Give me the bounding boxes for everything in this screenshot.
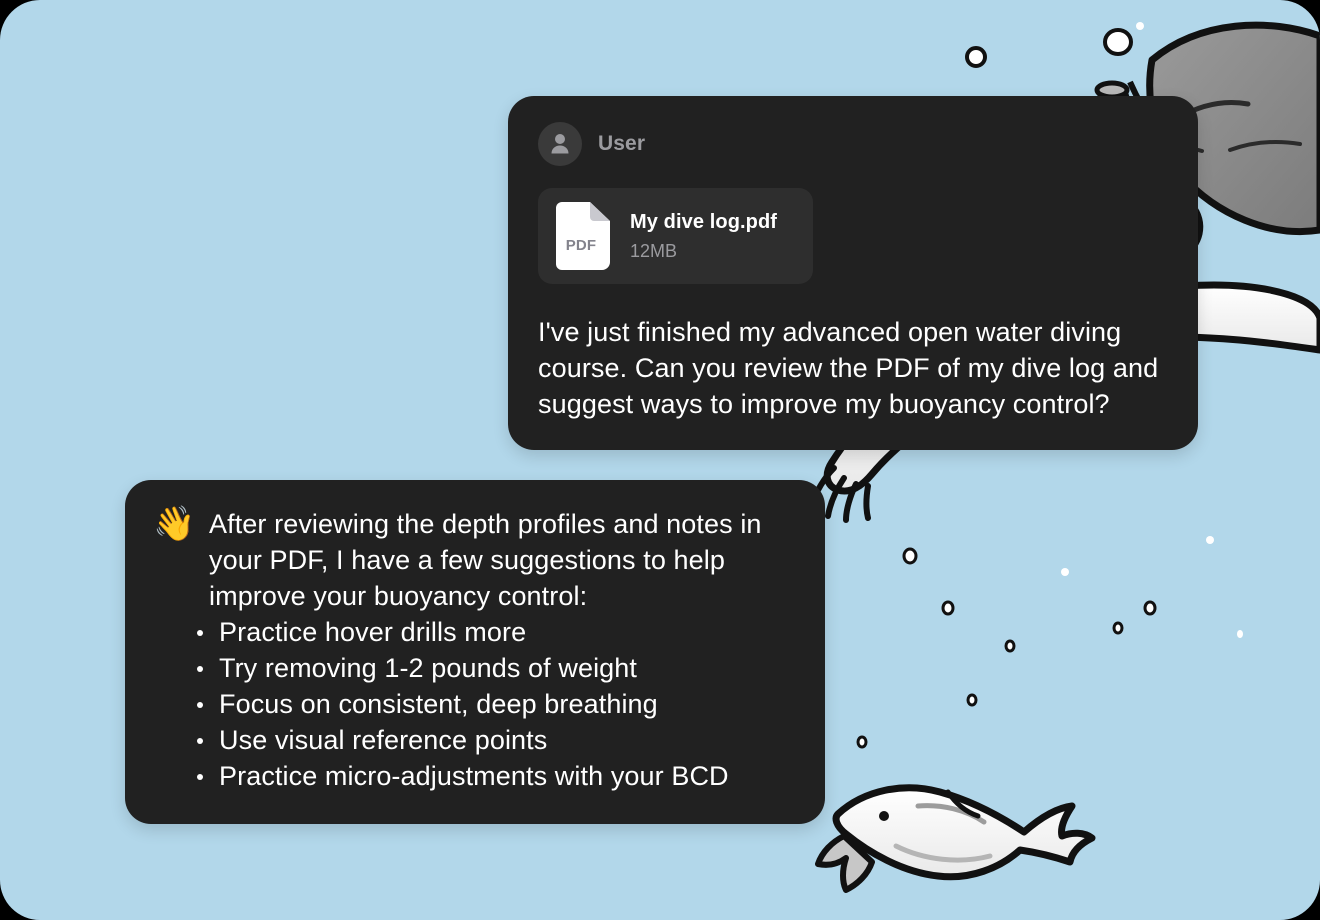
pdf-attachment-meta: My dive log.pdf 12MB [630, 211, 777, 262]
pdf-file-size: 12MB [630, 241, 777, 262]
list-item: Practice micro-adjustments with your BCD [219, 758, 795, 794]
list-item: Focus on consistent, deep breathing [219, 686, 795, 722]
fish-illustration [818, 788, 1092, 890]
pdf-file-name: My dive log.pdf [630, 211, 777, 234]
assistant-suggestion-list: Practice hover drills more Try removing … [153, 614, 795, 794]
user-message-header: User [538, 122, 1168, 166]
pdf-icon-label: PDF [556, 237, 606, 254]
list-item: Practice hover drills more [219, 614, 795, 650]
pdf-attachment-card[interactable]: PDF My dive log.pdf 12MB [538, 188, 813, 284]
assistant-intro-text: After reviewing the depth profiles and n… [209, 506, 795, 614]
waving-hand-emoji: 👋 [153, 506, 201, 542]
assistant-intro-row: 👋 After reviewing the depth profiles and… [153, 506, 795, 614]
user-message-bubble: User PDF My dive log.pdf 12MB I've just … [508, 96, 1198, 450]
person-avatar-icon [538, 122, 582, 166]
user-sender-name: User [598, 132, 645, 156]
user-message-text: I've just finished my advanced open wate… [538, 314, 1168, 422]
list-item: Use visual reference points [219, 722, 795, 758]
pdf-file-icon: PDF [556, 202, 610, 270]
list-item: Try removing 1-2 pounds of weight [219, 650, 795, 686]
assistant-message-bubble: 👋 After reviewing the depth profiles and… [125, 480, 825, 824]
screenshot-canvas: User PDF My dive log.pdf 12MB I've just … [0, 0, 1320, 920]
